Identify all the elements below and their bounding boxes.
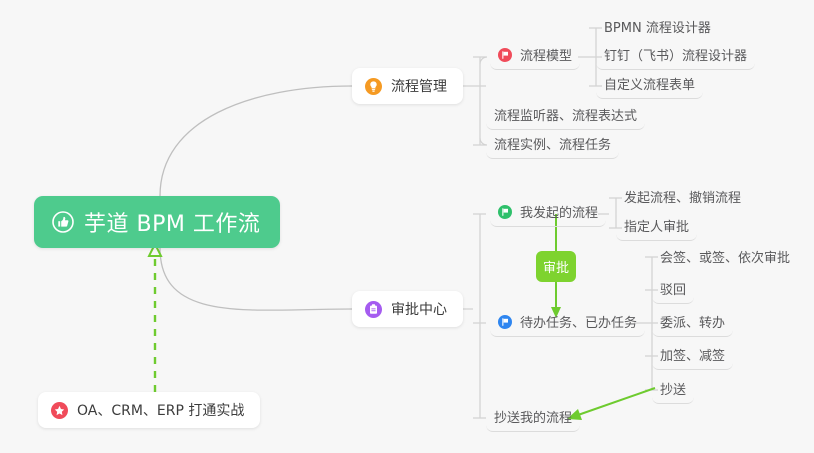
node-label-delegate-transfer: 委派、转办 [660, 312, 725, 331]
branch-node-process-management[interactable]: 流程管理 [352, 68, 463, 104]
clipboard-icon [365, 301, 382, 318]
thumbs-up-icon [52, 211, 74, 233]
node-delegate-transfer[interactable]: 委派、转办 [652, 310, 733, 337]
node-label-start-cancel-process: 发起流程、撤销流程 [624, 187, 741, 206]
node-label-dingtalk-feishu-designer: 钉钉（飞书）流程设计器 [604, 45, 747, 64]
branch-label-approval-center: 审批中心 [391, 299, 447, 319]
node-label-process-model: 流程模型 [520, 45, 572, 64]
node-cc-to-me-process[interactable]: 抄送我的流程 [486, 405, 580, 432]
link-root-to-process-management [160, 86, 352, 196]
star-icon [51, 402, 68, 419]
node-todo-done-tasks[interactable]: 待办任务、已办任务 [490, 310, 645, 337]
node-label-cc-to-me-process: 抄送我的流程 [494, 407, 572, 426]
node-label-my-initiated-process: 我发起的流程 [520, 202, 598, 221]
node-my-initiated-process[interactable]: 我发起的流程 [490, 200, 606, 227]
root-node[interactable]: 芋道 BPM 工作流 [34, 196, 280, 248]
node-process-instance-task[interactable]: 流程实例、流程任务 [486, 132, 619, 159]
node-label-carbon-copy: 抄送 [660, 379, 686, 398]
node-label-add-remove-sign: 加签、减签 [660, 345, 725, 364]
node-bpmn-designer[interactable]: BPMN 流程设计器 [596, 14, 719, 41]
node-start-cancel-process[interactable]: 发起流程、撤销流程 [616, 184, 749, 211]
node-assigned-approver[interactable]: 指定人审批 [616, 214, 697, 241]
integration-arrow [149, 244, 161, 392]
node-label-todo-done-tasks: 待办任务、已办任务 [520, 312, 637, 331]
mindmap-canvas: 芋道 BPM 工作流 流程管理 流程模型 BPMN 流程设计器 钉钉（飞书 [0, 0, 814, 453]
link-approval-center-bracket [462, 214, 486, 418]
flag-icon [498, 315, 512, 329]
link-process-management-bracket [462, 57, 486, 145]
integration-card[interactable]: OA、CRM、ERP 打通实战 [38, 392, 260, 428]
node-process-model[interactable]: 流程模型 [490, 43, 580, 70]
node-custom-process-form[interactable]: 自定义流程表单 [596, 72, 703, 99]
branch-node-approval-center[interactable]: 审批中心 [352, 291, 463, 327]
node-label-countersign-or-sequential: 会签、或签、依次审批 [660, 247, 790, 266]
flag-icon [498, 205, 512, 219]
approval-tag[interactable]: 审批 [536, 251, 576, 282]
integration-card-label: OA、CRM、ERP 打通实战 [77, 400, 244, 420]
node-reject[interactable]: 驳回 [652, 277, 694, 304]
node-countersign-or-sequential[interactable]: 会签、或签、依次审批 [652, 244, 798, 271]
lightbulb-icon [365, 78, 382, 95]
node-label-assigned-approver: 指定人审批 [624, 216, 689, 235]
node-label-reject: 驳回 [660, 279, 686, 298]
node-label-process-instance-task: 流程实例、流程任务 [494, 134, 611, 153]
node-process-listener-expression[interactable]: 流程监听器、流程表达式 [486, 103, 645, 130]
node-add-remove-sign[interactable]: 加签、减签 [652, 343, 733, 370]
cc-arrow [567, 388, 655, 420]
node-dingtalk-feishu-designer[interactable]: 钉钉（飞书）流程设计器 [596, 43, 755, 70]
node-carbon-copy[interactable]: 抄送 [652, 377, 694, 404]
node-label-custom-process-form: 自定义流程表单 [604, 74, 695, 93]
node-label-bpmn-designer: BPMN 流程设计器 [604, 17, 711, 36]
flag-icon [498, 48, 512, 62]
approval-tag-label: 审批 [543, 257, 569, 276]
branch-label-process-management: 流程管理 [391, 76, 447, 96]
node-label-process-listener-expression: 流程监听器、流程表达式 [494, 105, 637, 124]
link-root-to-approval-center [160, 248, 352, 310]
root-label: 芋道 BPM 工作流 [84, 206, 260, 238]
